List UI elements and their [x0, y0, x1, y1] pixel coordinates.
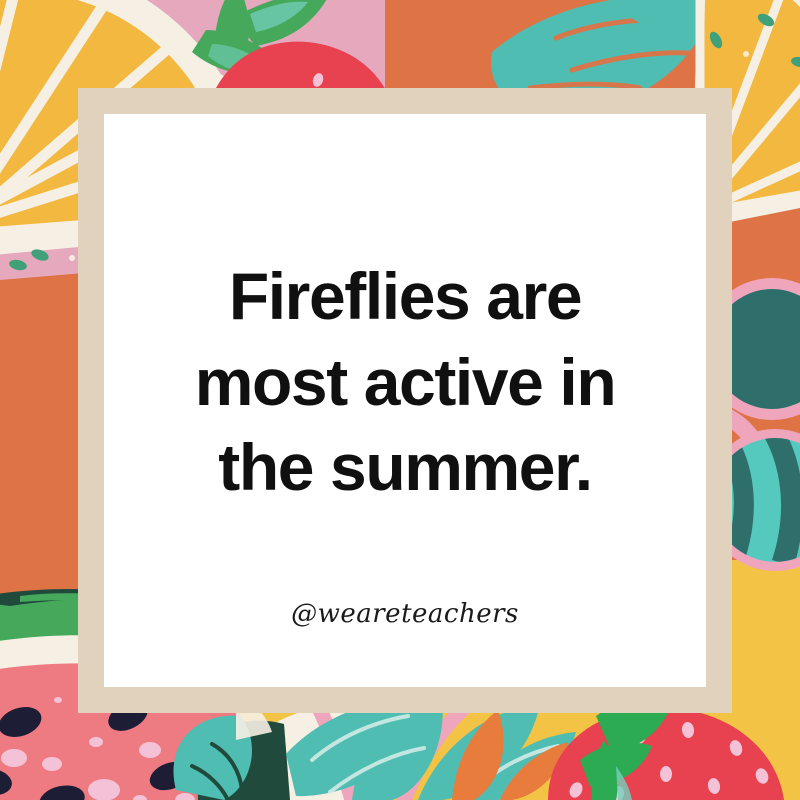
quote-card-frame: Fireflies are most active in the summer.…: [78, 88, 732, 713]
quote-text: Fireflies are most active in the summer.: [104, 254, 706, 511]
quote-card-inner: Fireflies are most active in the summer.…: [104, 114, 706, 687]
quote-card-canvas: Fireflies are most active in the summer.…: [0, 0, 800, 800]
quote-line-2: most active in: [118, 340, 692, 426]
quote-line-1: Fireflies are: [118, 254, 692, 340]
social-handle: @weareteachers: [104, 599, 706, 629]
quote-line-3: the summer.: [118, 425, 692, 511]
